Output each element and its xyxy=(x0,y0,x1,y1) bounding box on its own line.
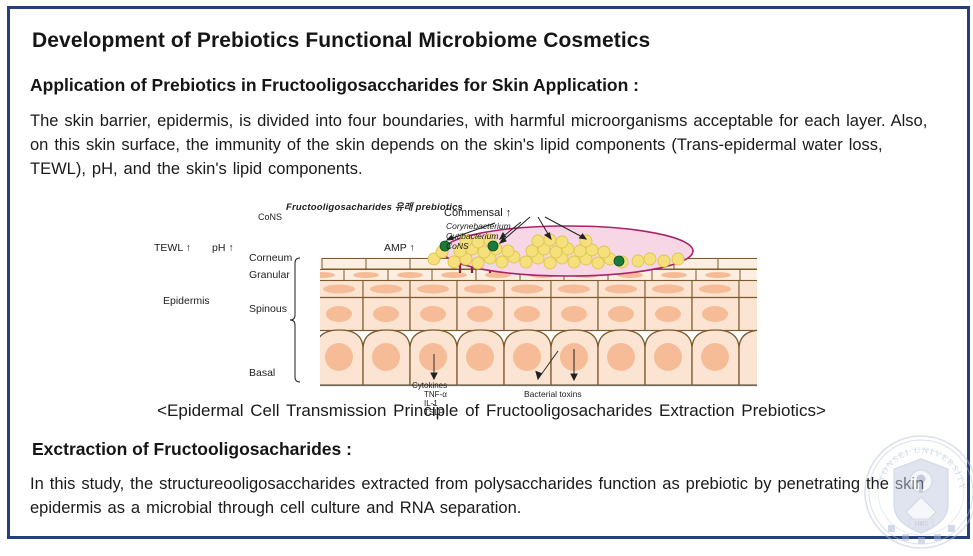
figure-label-bacterial-toxins: Bacterial toxins xyxy=(524,389,582,399)
figure-label-tewl: TEWL ↑ xyxy=(154,242,191,254)
svg-text:1885: 1885 xyxy=(914,520,929,528)
figure-label-cons: CoNS xyxy=(258,212,282,222)
figure-caption: <Epidermal Cell Transmission Principle o… xyxy=(10,401,973,421)
figure-layer-group-epidermis: Epidermis xyxy=(163,295,210,307)
layer-granular xyxy=(316,281,763,298)
figure-commensal-block: Commensal ↑ Corynebacterium Cutibacteriu… xyxy=(444,207,511,249)
figure-commensal-species-1: Cutibacterium xyxy=(446,231,513,241)
section-heading-application: Application of Prebiotics in Fructooligo… xyxy=(30,75,639,96)
section-heading-extraction: Exctraction of Fructooligosacharides : xyxy=(32,439,352,460)
figure-layer-corneum: Corneum xyxy=(249,252,292,264)
epidermis-bracket xyxy=(290,258,300,382)
skin-cell-stack xyxy=(300,257,763,385)
section-paragraph-extraction: In this study, the structureooligosaccha… xyxy=(30,472,950,520)
section-paragraph-application: The skin barrier, epidermis, is divided … xyxy=(30,109,930,181)
figure-layer-basal: Basal xyxy=(249,367,275,379)
figure-commensal-species-0: Corynebacterium xyxy=(446,221,513,231)
epidermis-diagram: Fructooligosacharides 유래 prebiotics CoNS… xyxy=(238,199,763,399)
figure-commensal-title: Commensal ↑ xyxy=(444,207,511,219)
figure-layer-spinous: Spinous xyxy=(249,303,287,315)
slide-root: Development of Prebiotics Functional Mic… xyxy=(0,0,973,541)
figure-commensal-species-2: CoNS xyxy=(446,241,513,251)
figure-cytokines-title: Cytokines xyxy=(412,381,447,390)
page-title: Development of Prebiotics Functional Mic… xyxy=(32,29,650,53)
slide-border-frame: Development of Prebiotics Functional Mic… xyxy=(7,6,970,539)
figure-cytokine-0: TNF-α xyxy=(424,390,459,399)
figure-label-ph: pH ↑ xyxy=(212,242,234,254)
figure-layer-granular: Granular xyxy=(249,269,290,281)
figure-title-prebiotics: Fructooligosacharides 유래 prebiotics xyxy=(286,199,463,213)
slide-content: Development of Prebiotics Functional Mic… xyxy=(10,9,973,542)
layer-spinous xyxy=(316,298,763,331)
figure-label-amp: AMP ↑ xyxy=(384,242,415,254)
